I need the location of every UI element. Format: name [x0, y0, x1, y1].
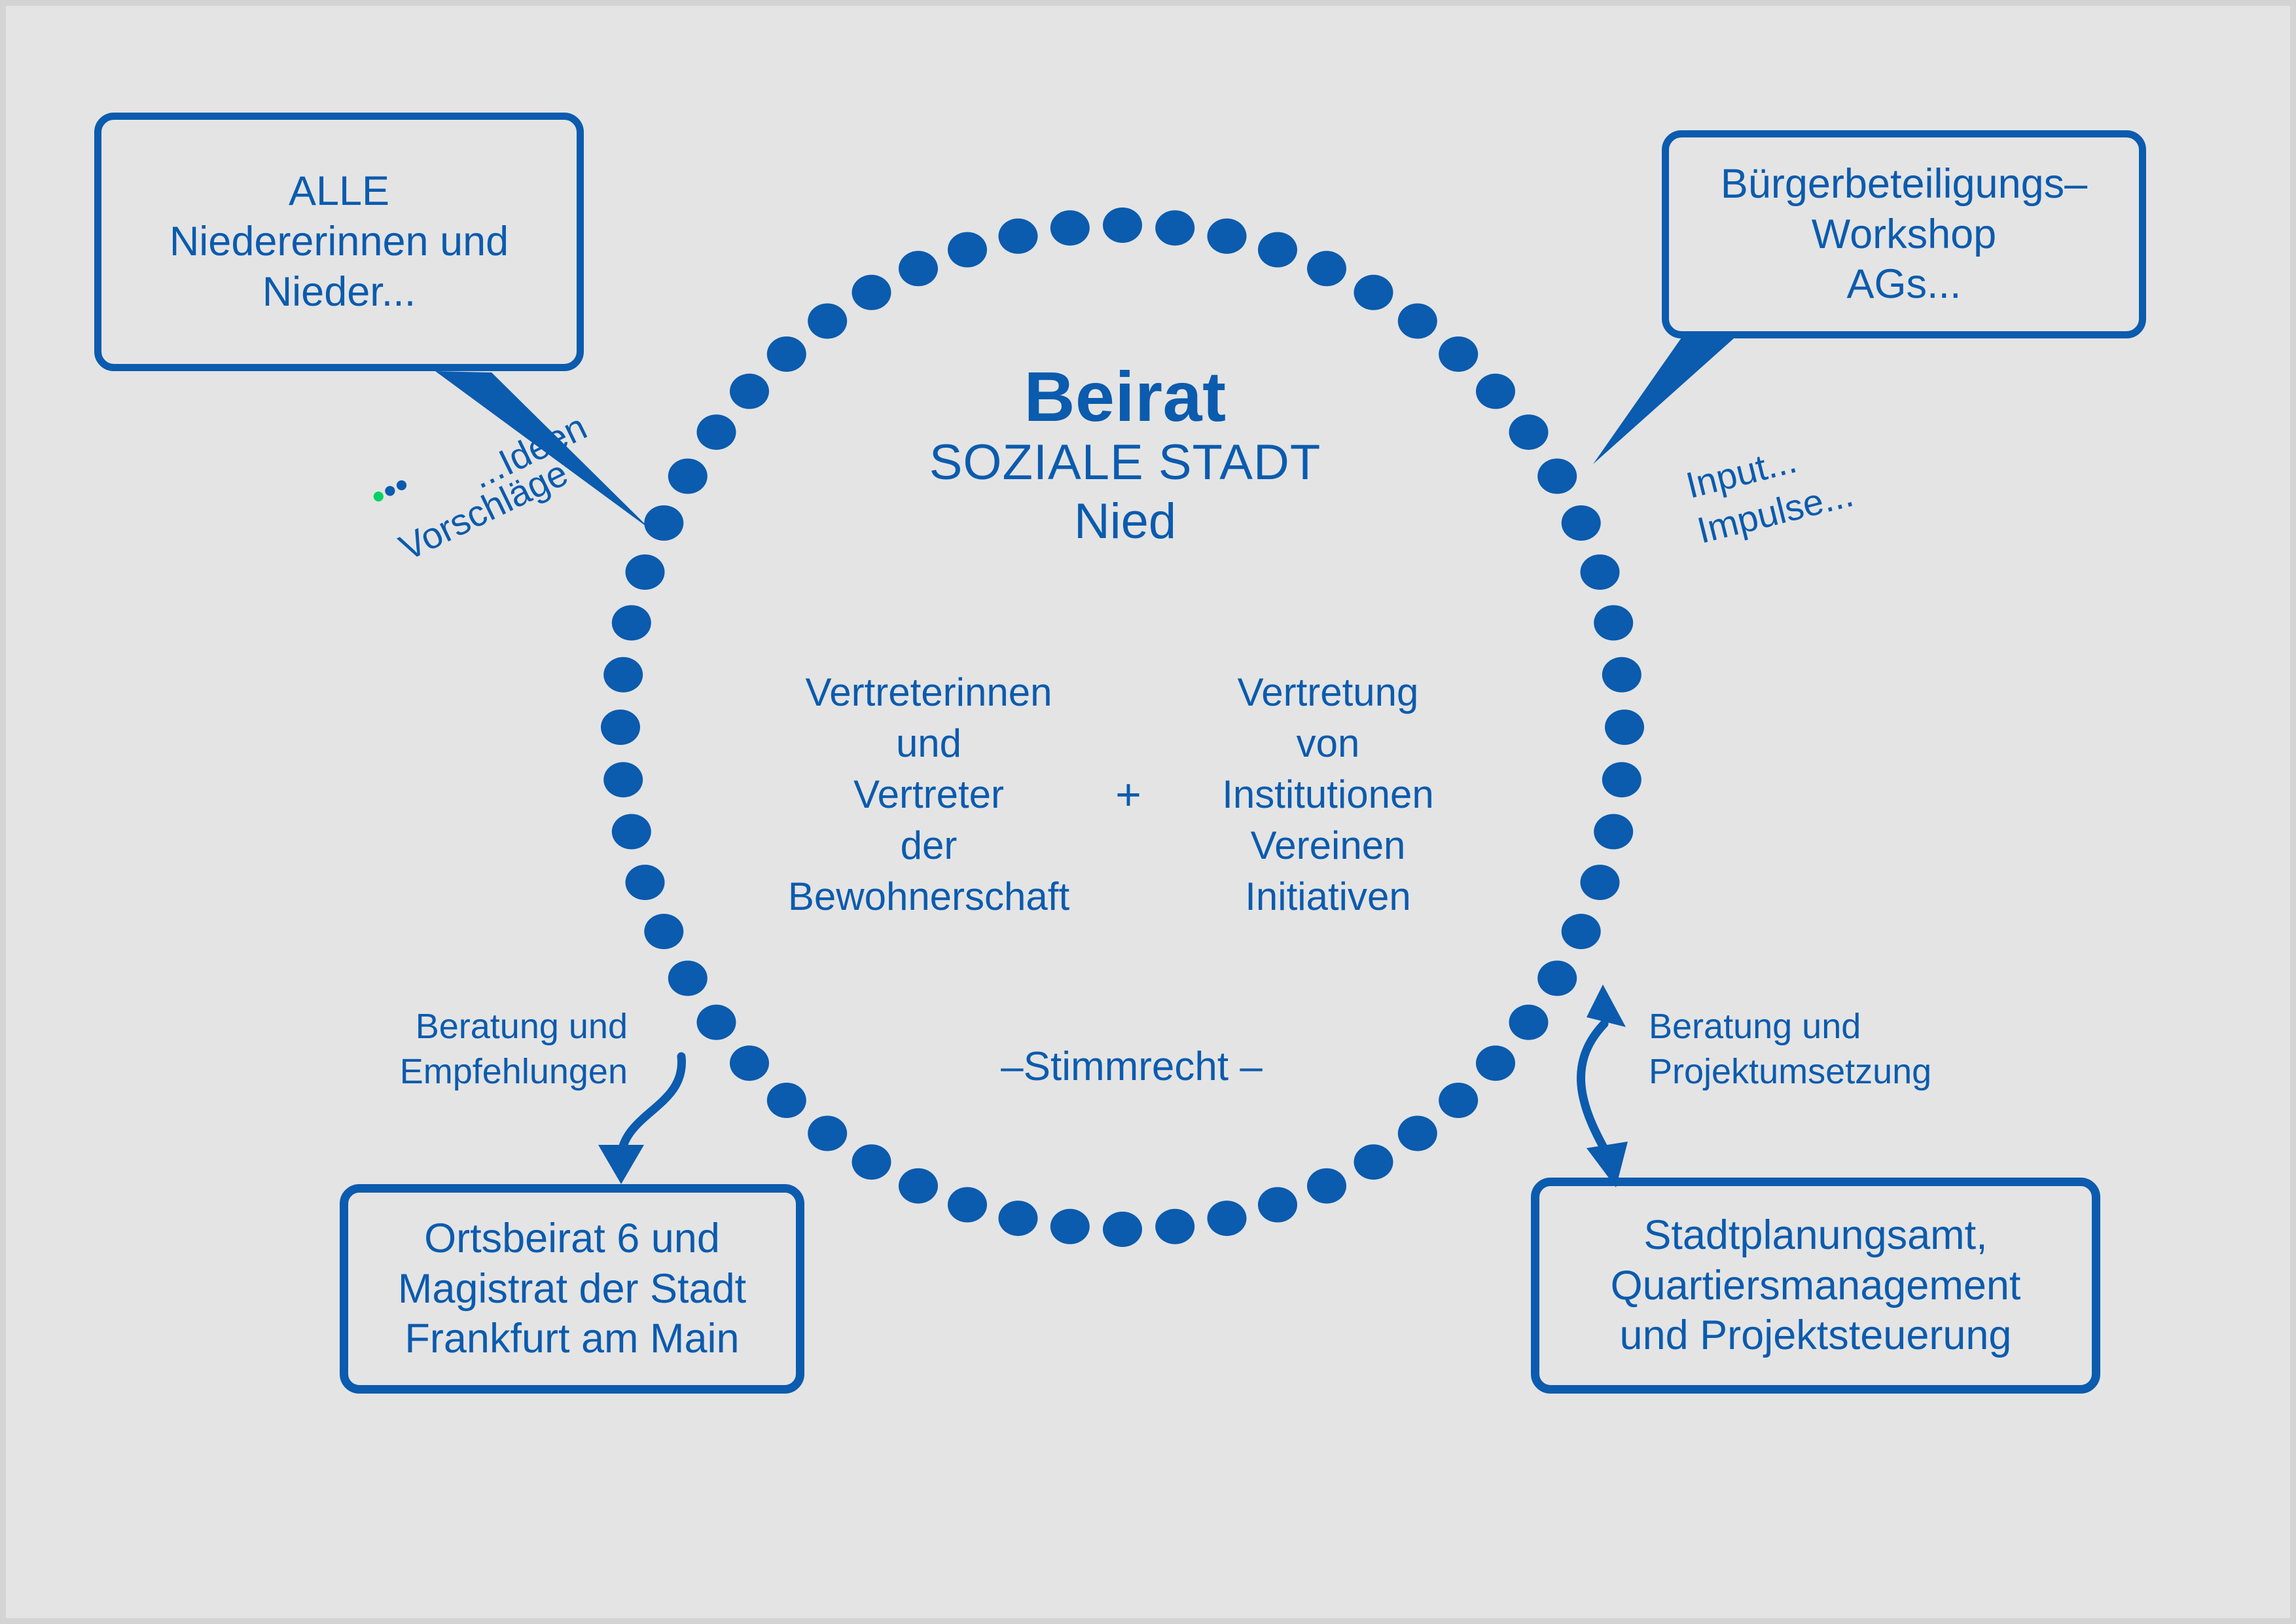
ring-dot	[603, 657, 643, 693]
ring-dot	[697, 1005, 736, 1040]
label-beratung-empfehlungen: Beratung und Empfehlungen	[379, 1004, 628, 1094]
ring-dot	[644, 505, 683, 541]
subtitle-nied: Nied	[739, 492, 1511, 551]
ring-dot	[1398, 1116, 1437, 1151]
arrow-beratung-empfehlungen	[621, 1056, 681, 1155]
ring-dot	[1050, 210, 1090, 245]
ring-dot	[1208, 219, 1247, 254]
ring-dot	[1258, 1187, 1297, 1223]
ring-dot	[852, 275, 891, 310]
subtitle-soziale-stadt: SOZIALE STADT	[739, 433, 1511, 492]
ring-dot	[668, 961, 708, 996]
ring-dot	[1581, 865, 1620, 900]
column-bewohnerschaft: Vertreterinnen und Vertreter der Bewohne…	[765, 667, 1092, 922]
speech-bubble-workshop-text: Bürgerbeteiligungs– Workshop AGs...	[1721, 159, 2087, 310]
diagram-canvas: ALLE Niedererinnen und Nieder... Bürgerb…	[0, 0, 2296, 1624]
circle-membership-columns: Vertreterinnen und Vertreter der Bewohne…	[719, 667, 1537, 922]
ring-dot	[1594, 605, 1633, 641]
ring-dot	[948, 232, 987, 268]
ring-dot	[899, 251, 938, 286]
ring-dot	[1050, 1209, 1090, 1244]
ring-dot	[697, 414, 736, 450]
speech-bubble-residents-text: ALLE Niedererinnen und Nieder...	[170, 166, 509, 317]
ring-dot	[644, 914, 683, 949]
ring-dot	[1509, 1005, 1549, 1040]
box-stadtplanungsamt-text: Stadtplanungsamt, Quartiersmanagement un…	[1611, 1210, 2021, 1362]
ring-dot	[1537, 459, 1577, 494]
ring-dot	[899, 1168, 938, 1204]
ring-dot	[808, 1116, 847, 1151]
ring-dot	[1307, 251, 1346, 286]
arrowhead-up-right	[1587, 984, 1626, 1027]
arrowhead-down-left	[598, 1145, 644, 1184]
ring-dot	[730, 1045, 769, 1081]
ring-dot	[1354, 275, 1393, 310]
ring-dot	[1354, 1144, 1393, 1180]
ring-dot	[603, 762, 643, 797]
ring-dot	[1509, 414, 1549, 450]
ring-dot	[1605, 710, 1644, 745]
ring-dot	[626, 554, 665, 590]
ring-dot	[1208, 1200, 1247, 1236]
column-institutionen: Vertretung von Institutionen Vereinen In…	[1164, 667, 1492, 922]
stimmrecht-note: –Stimmrecht –	[778, 1043, 1485, 1090]
ring-dot	[808, 304, 847, 339]
ring-dot	[999, 219, 1038, 254]
plus-sign: +	[1092, 769, 1164, 820]
speech-bubble-residents[interactable]: ALLE Niedererinnen und Nieder...	[94, 113, 584, 371]
ring-dot	[852, 1144, 891, 1180]
ring-dot	[1537, 961, 1577, 996]
label-beratung-projektumsetzung: Beratung und Projektumsetzung	[1649, 1004, 1956, 1094]
ring-dot	[999, 1200, 1038, 1236]
ring-dot	[1155, 210, 1194, 245]
ring-dot	[1155, 1209, 1194, 1244]
ring-dot	[1103, 1212, 1142, 1247]
box-stadtplanungsamt[interactable]: Stadtplanungsamt, Quartiersmanagement un…	[1531, 1178, 2100, 1394]
ring-dot	[612, 814, 651, 850]
page-title: Beirat	[739, 359, 1511, 433]
speech-tail-top-right	[1593, 338, 1734, 464]
ring-dot	[626, 865, 665, 900]
ring-dot	[1562, 505, 1601, 541]
box-ortsbeirat-text: Ortsbeirat 6 und Magistrat der Stadt Fra…	[398, 1214, 746, 1365]
ring-dot	[948, 1187, 987, 1223]
arrow-beratung-projektumsetzung	[1581, 1024, 1609, 1158]
circle-center-heading: Beirat SOZIALE STADT Nied	[739, 359, 1511, 551]
ring-dot	[1562, 914, 1601, 949]
box-ortsbeirat-magistrat[interactable]: Ortsbeirat 6 und Magistrat der Stadt Fra…	[340, 1184, 804, 1394]
ring-dot	[1594, 814, 1633, 850]
ring-dot	[1602, 762, 1641, 797]
ring-dot	[612, 605, 651, 641]
ring-dot	[1602, 657, 1641, 693]
ring-dot	[1398, 304, 1437, 339]
ring-dot	[1307, 1168, 1346, 1204]
ring-dot	[1103, 208, 1142, 243]
speech-bubble-workshop[interactable]: Bürgerbeteiligungs– Workshop AGs...	[1662, 130, 2146, 338]
ring-dot	[668, 459, 708, 494]
ring-dot	[1581, 554, 1620, 590]
ring-dot	[1258, 232, 1297, 268]
ring-dot	[601, 710, 640, 745]
